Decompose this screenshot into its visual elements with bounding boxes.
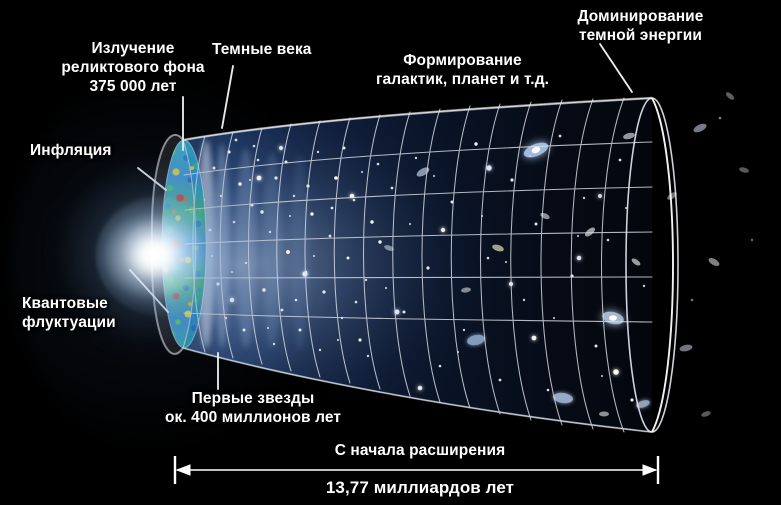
- cone-surface: [183, 98, 652, 432]
- leader-dark-energy: [600, 44, 632, 92]
- label-first-stars: Первые звезды ок. 400 миллионов лет: [128, 390, 378, 428]
- universe-expansion-figure: Излучение реликтового фона 375 000 лет И…: [0, 0, 781, 505]
- label-dark-ages: Темные века: [212, 41, 352, 60]
- label-quantum-fluctuations: Квантовые флуктуации: [22, 295, 172, 333]
- cone-right-rim: [626, 98, 678, 432]
- leader-inflation: [138, 168, 166, 190]
- label-dark-energy-dominance: Доминирование темной энергии: [538, 8, 743, 46]
- scale-bar-caption: С начала расширения: [290, 442, 550, 461]
- spacetime-grid: [183, 98, 652, 432]
- leader-dark-ages: [222, 66, 233, 128]
- label-inflation: Инфляция: [30, 142, 160, 161]
- starfield: [183, 98, 653, 433]
- galaxies: [383, 132, 650, 417]
- expansion-cone: [152, 98, 678, 433]
- label-galaxy-formation: Формирование галактик, планет и т.д.: [355, 52, 570, 90]
- stars-dense: [203, 135, 645, 402]
- label-cmb: Излучение реликтового фона 375 000 лет: [48, 40, 218, 97]
- outside-galaxies: [666, 91, 753, 418]
- scale-bar-value: 13,77 миллиардов лет: [280, 478, 560, 499]
- stars-bright: [230, 146, 619, 390]
